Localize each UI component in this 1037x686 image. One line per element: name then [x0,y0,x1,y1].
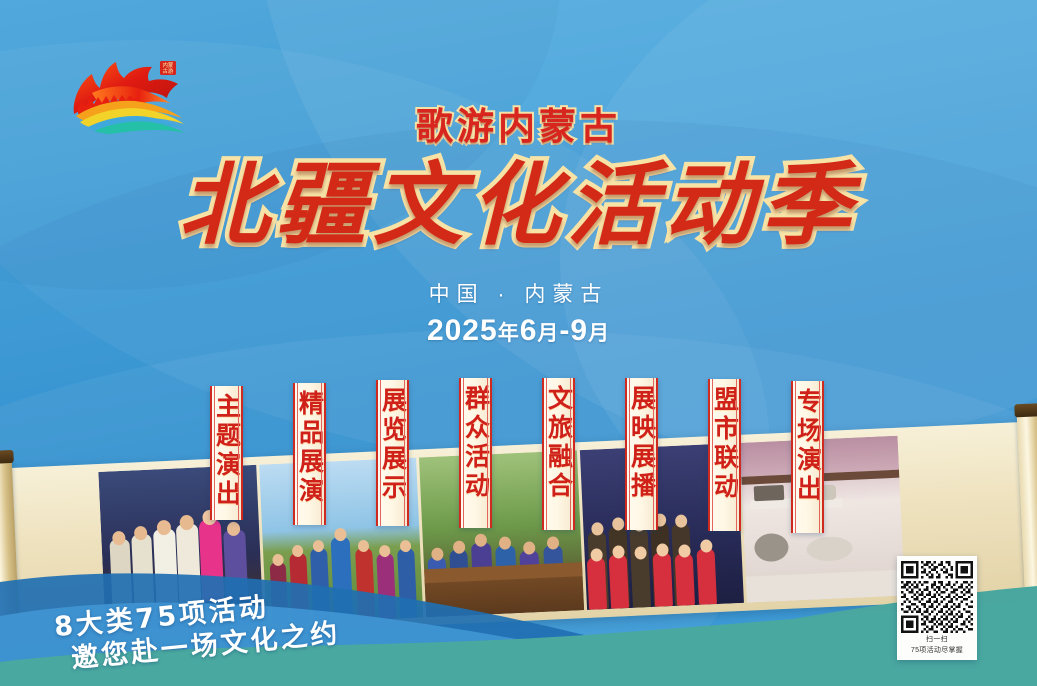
category-banner-4[interactable]: 群众活动 [459,378,492,528]
date-end-month: 9 [570,314,588,347]
svg-text:古游: 古游 [163,67,174,75]
svg-text:内蒙: 内蒙 [163,61,174,69]
subtitle-slogan: 歌游内蒙古 [0,108,1037,145]
poster-canvas: 内蒙 古游 歌游内蒙古 北疆文化活动季 中国 · 内蒙古 2025年6月-9月 [0,0,1037,686]
category-label-2: 精品展演 [292,390,328,506]
headline-block: 歌游内蒙古 北疆文化活动季 中国 · 内蒙古 2025年6月-9月 [0,108,1037,348]
date-start-month: 6 [520,314,538,347]
qr-caption-line-2: 75项活动尽掌握 [901,646,973,655]
category-label-7: 盟市联动 [707,386,743,502]
category-banner-8[interactable]: 专场演出 [791,381,824,533]
date-year-unit: 年 [498,322,520,345]
category-banner-6[interactable]: 展映展播 [625,378,658,530]
category-banner-1[interactable]: 主题演出 [210,386,243,520]
category-label-3: 展览展示 [375,387,411,503]
category-label-5: 文旅融合 [541,385,577,501]
qr-code-image[interactable] [901,561,973,633]
category-label-4: 群众活动 [458,385,494,501]
category-banner-7[interactable]: 盟市联动 [708,379,741,531]
category-banner-3[interactable]: 展览展示 [376,380,409,526]
category-label-1: 主题演出 [209,393,245,509]
date-dash: - [559,314,570,347]
qr-code-card[interactable]: 扫一扫 75项活动尽掌握 [897,556,977,660]
date-end-month-unit: 月 [588,322,610,345]
qr-caption-line-1: 扫一扫 [901,635,973,644]
category-label-8: 专场演出 [790,388,826,504]
category-banner-5[interactable]: 文旅融合 [542,378,575,530]
category-banner-2[interactable]: 精品展演 [293,383,326,525]
date-start-month-unit: 月 [537,322,559,345]
date-year: 2025 [427,314,498,347]
date-range-label: 2025年6月-9月 [0,314,1037,348]
location-label: 中国 · 内蒙古 [0,278,1037,308]
category-label-6: 展映展播 [624,385,660,501]
page-title: 北疆文化活动季 [0,157,1037,254]
